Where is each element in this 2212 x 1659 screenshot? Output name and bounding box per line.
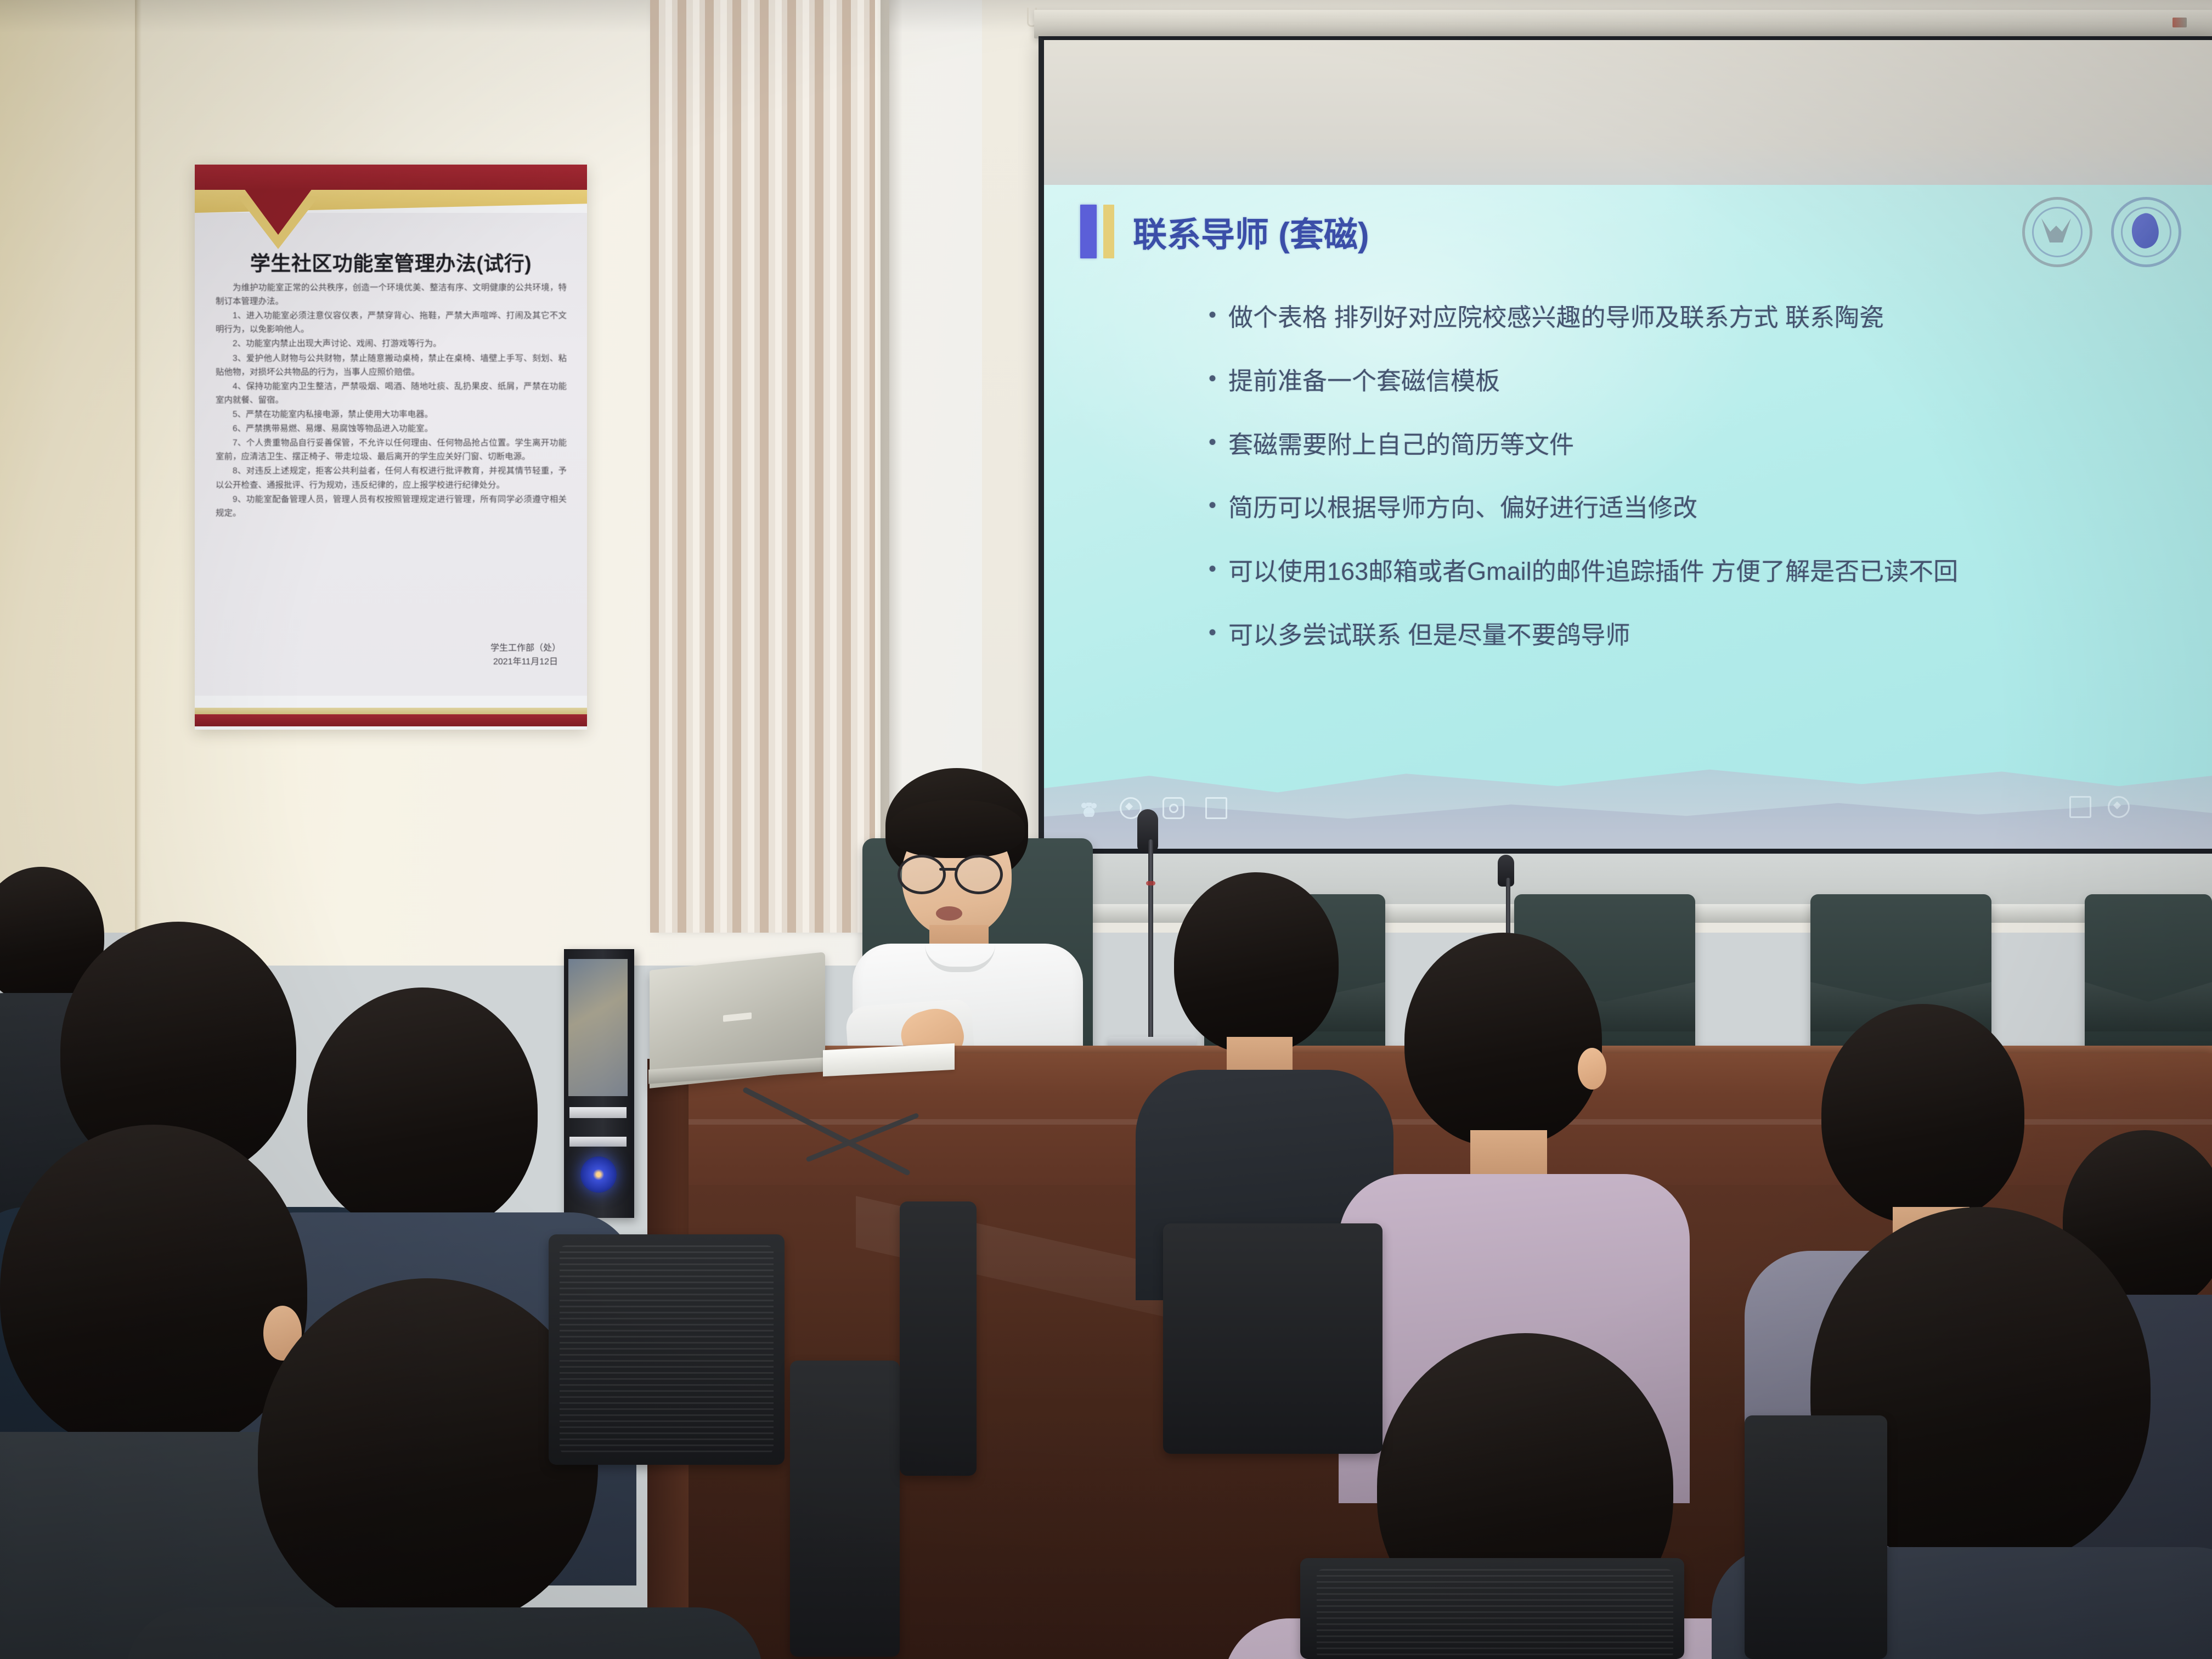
bullet-marker-icon: • [1209,556,1216,582]
audience-chair-back [1745,1415,1887,1659]
poster-rule: 5、严禁在功能室内私接电源，禁止使用大功率电器。 [216,408,567,421]
poster-rule: 1、进入功能室必须注意仪容仪表，严禁穿背心、拖鞋，严禁大声喧哗、打闹及其它不文明… [216,309,567,336]
audience-shirt [126,1607,763,1659]
slide-bullet: • 可以多尝试联系 但是尽量不要鸽导师 [1209,620,2146,651]
poster-title: 学生社区功能室管理办法(试行) [195,247,587,276]
slide-bullet: • 简历可以根据导师方向、偏好进行适当修改 [1209,493,2146,523]
audience-chair-back [1163,1223,1383,1454]
poster-rule: 3、爱护他人财物与公共财物，禁止随意搬动桌椅，禁止在桌椅、墙壁上手写、刻划、粘贴… [216,352,567,379]
desktop-tower-panel [568,959,628,1096]
tag-icon [2069,796,2091,818]
slide-bullet: • 可以使用163邮箱或者Gmail的邮件追踪插件 方便了解是否已读不回 [1209,556,2146,587]
bullet-marker-icon: • [1209,620,1216,645]
desktop-drive-slot [569,1137,627,1147]
poster-bottom-red [195,714,587,726]
slide-logos [2022,197,2181,267]
glasses-lens-right [955,855,1003,894]
audience-chair-back [900,1201,977,1476]
slide-title-row: 联系导师 (套磁) [1080,205,1369,258]
presenter-mouth [936,906,962,921]
title-accent-gold-bar [1103,205,1114,258]
desktop-fan-led-icon [580,1156,617,1193]
hexagon-icon [1163,797,1184,819]
poster-rule: 4、保持功能室内卫生整洁，严禁吸烟、喝酒、随地吐痰、乱扔果皮、纸屑，严禁在功能室… [216,380,567,407]
poster-rule: 6、严禁携带易燃、易爆、易腐蚀等物品进入功能室。 [216,422,567,436]
glasses-icon [898,855,1016,889]
wall-corner [135,0,142,933]
desktop-drive-slot [569,1107,627,1118]
poster-rule: 7、个人贵重物品自行妥善保管，不允许以任何理由、任何物品抢占位置。学生离开功能室… [216,436,567,464]
bullet-text: 做个表格 排列好对应院校感兴趣的导师及联系方式 联系陶瓷 [1228,302,1884,333]
diamond-icon [2108,796,2130,818]
university-seal-left-icon [2022,197,2092,267]
presenter-fringe [889,800,1025,858]
microphone-icon [1137,809,1158,852]
microphone-stem [1148,839,1153,1041]
glasses-lens-left [898,855,946,894]
poster-rule: 8、对违反上述规定，拒客公共利益者，任何人有权进行批评教育，并视其情节轻重，予以… [216,464,567,492]
presenter [805,768,1113,1075]
audience-chair-back [790,1361,900,1657]
bullet-text: 简历可以根据导师方向、偏好进行适当修改 [1228,493,1697,523]
bullet-text: 提前准备一个套磁信模板 [1228,366,1500,397]
poster-rule: 9、功能室配备管理人员，管理人员有权按照管理规定进行管理，所有同学必须遵守相关规… [216,493,567,520]
slide-decorative-icons-right [2069,796,2130,818]
bullet-marker-icon: • [1209,493,1216,518]
bullet-text: 可以使用163邮箱或者Gmail的邮件追踪插件 方便了解是否已读不回 [1228,556,1958,587]
projector-screen-casing [1034,10,2212,38]
poster-date: 2021年11月12日 [490,656,561,669]
poster-rule: 2、功能室内禁止出现大声讨论、戏闹、打游戏等行为。 [216,337,567,351]
slide-bullet: • 套磁需要附上自己的简历等文件 [1209,430,2146,460]
poster-red-band [195,165,587,190]
bullet-marker-icon: • [1209,430,1216,455]
presentation-slide: 联系导师 (套磁) • 做个表格 排列好对应院校感兴趣的导师及联系方式 联系陶瓷… [1044,185,2212,849]
glasses-bridge [939,868,957,871]
screen-casing-label [2172,18,2187,27]
poster-red-notch [244,189,312,235]
lecture-hall-photo: 学生社区功能室管理办法(试行) 为维护功能室正常的公共秩序，创造一个环境优美、整… [0,0,2212,1659]
bullet-marker-icon: • [1209,302,1216,328]
tag-icon [1205,797,1227,819]
slide-bullet-list: • 做个表格 排列好对应院校感兴趣的导师及联系方式 联系陶瓷 • 提前准备一个套… [1209,302,2146,684]
title-accent-blue-bar [1080,205,1097,258]
university-seal-right-icon [2111,197,2181,267]
slide-bullet: • 做个表格 排列好对应院校感兴趣的导师及联系方式 联系陶瓷 [1209,302,2146,333]
wall-poster: 学生社区功能室管理办法(试行) 为维护功能室正常的公共秩序，创造一个环境优美、整… [195,165,587,730]
bullet-text: 套磁需要附上自己的简历等文件 [1228,430,1574,460]
poster-intro: 为维护功能室正常的公共秩序，创造一个环境优美、整洁有序、文明健康的公共环境，特制… [216,281,567,308]
microphone-indicator [1146,881,1155,885]
projector-screen: 联系导师 (套磁) • 做个表格 排列好对应院校感兴趣的导师及联系方式 联系陶瓷… [1039,36,2212,854]
chair-mesh [560,1245,774,1454]
screen-blank-area [1044,40,2212,188]
slide-bullet: • 提前准备一个套磁信模板 [1209,366,2146,397]
slide-title: 联系导师 (套磁) [1133,207,1369,256]
poster-issuer: 学生工作部（处） [490,642,561,656]
poster-signature-block: 学生工作部（处） 2021年11月12日 [490,642,561,669]
bullet-marker-icon: • [1209,366,1216,391]
podium-chair [2085,894,2212,1059]
poster-body: 为维护功能室正常的公共秩序，创造一个环境优美、整洁有序、文明健康的公共环境，特制… [216,281,567,521]
bullet-text: 可以多尝试联系 但是尽量不要鸽导师 [1228,620,1630,651]
chair-mesh [1317,1569,1673,1659]
